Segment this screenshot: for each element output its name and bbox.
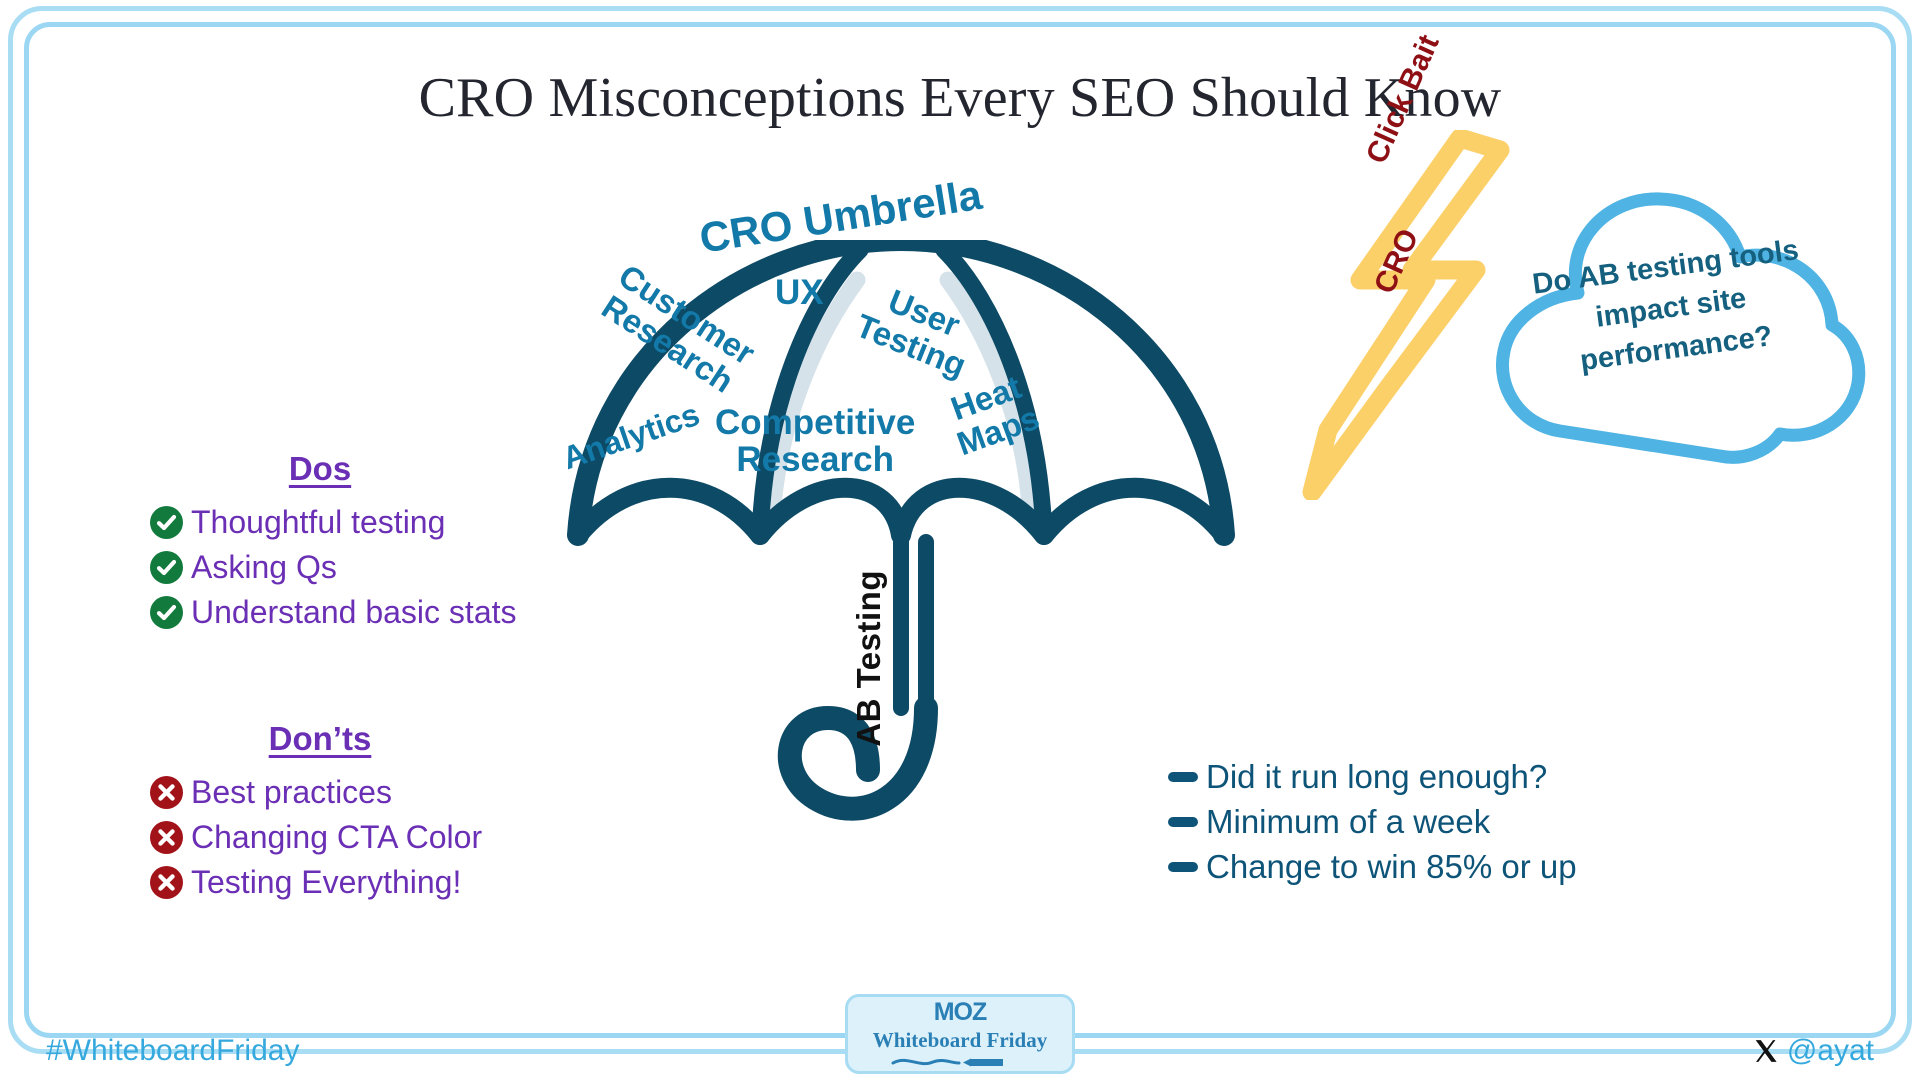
footer-hashtag: #WhiteboardFriday: [46, 1034, 299, 1068]
marker-pen-icon: [885, 1054, 1035, 1070]
donts-item-label: Best practices: [191, 774, 392, 812]
page-title: CRO Misconceptions Every SEO Should Know: [0, 66, 1920, 130]
x-twitter-icon[interactable]: [1753, 1038, 1779, 1064]
checklist-item-label: Minimum of a week: [1206, 803, 1490, 841]
list-item: Did it run long enough?: [1168, 758, 1577, 796]
check-circle-icon: [150, 596, 183, 629]
ab-test-checklist: Did it run long enough? Minimum of a wee…: [1168, 758, 1577, 893]
whiteboard-canvas: CRO Misconceptions Every SEO Should Know…: [0, 0, 1920, 1080]
list-item: Testing Everything!: [150, 864, 620, 902]
umbrella-label-ux: UX: [775, 275, 824, 312]
umbrella-handle-label-ab-testing: AB Testing: [850, 570, 888, 747]
checklist-item-label: Change to win 85% or up: [1206, 848, 1577, 886]
list-item: Best practices: [150, 774, 620, 812]
list-item: Understand basic stats: [150, 594, 620, 632]
dos-heading: Dos: [150, 450, 620, 488]
x-circle-icon: [150, 866, 183, 899]
moz-whiteboard-friday-badge: MOZ Whiteboard Friday: [845, 994, 1075, 1074]
list-item: Changing CTA Color: [150, 819, 620, 857]
list-item: Asking Qs: [150, 549, 620, 587]
dos-section: Dos Thoughtful testing Asking Qs Underst…: [150, 450, 620, 638]
dos-item-label: Asking Qs: [191, 549, 337, 587]
donts-item-label: Testing Everything!: [191, 864, 461, 902]
footer-social[interactable]: @ayat: [1753, 1034, 1874, 1068]
competitive-research-line-1: Competitive: [715, 405, 915, 442]
dash-bullet-icon: [1168, 817, 1198, 827]
donts-section: Don’ts Best practices Changing CTA Color…: [150, 720, 620, 908]
donts-item-label: Changing CTA Color: [191, 819, 482, 857]
umbrella-label-competitive-research: Competitive Research: [715, 405, 915, 479]
dash-bullet-icon: [1168, 862, 1198, 872]
donts-heading: Don’ts: [150, 720, 620, 758]
thought-cloud-group: Do AB testing tools impact site performa…: [1468, 175, 1888, 475]
check-circle-icon: [150, 506, 183, 539]
checklist-item-label: Did it run long enough?: [1206, 758, 1547, 796]
moz-badge-subtitle: Whiteboard Friday: [873, 1028, 1047, 1053]
list-item: Change to win 85% or up: [1168, 848, 1577, 886]
x-circle-icon: [150, 821, 183, 854]
dos-item-label: Thoughtful testing: [191, 504, 445, 542]
moz-wordmark: MOZ: [934, 998, 987, 1027]
check-circle-icon: [150, 551, 183, 584]
dash-bullet-icon: [1168, 772, 1198, 782]
dos-item-label: Understand basic stats: [191, 594, 517, 632]
competitive-research-line-2: Research: [715, 442, 915, 479]
list-item: Minimum of a week: [1168, 803, 1577, 841]
list-item: Thoughtful testing: [150, 504, 620, 542]
footer-handle-label: @ayat: [1787, 1034, 1874, 1068]
x-circle-icon: [150, 776, 183, 809]
